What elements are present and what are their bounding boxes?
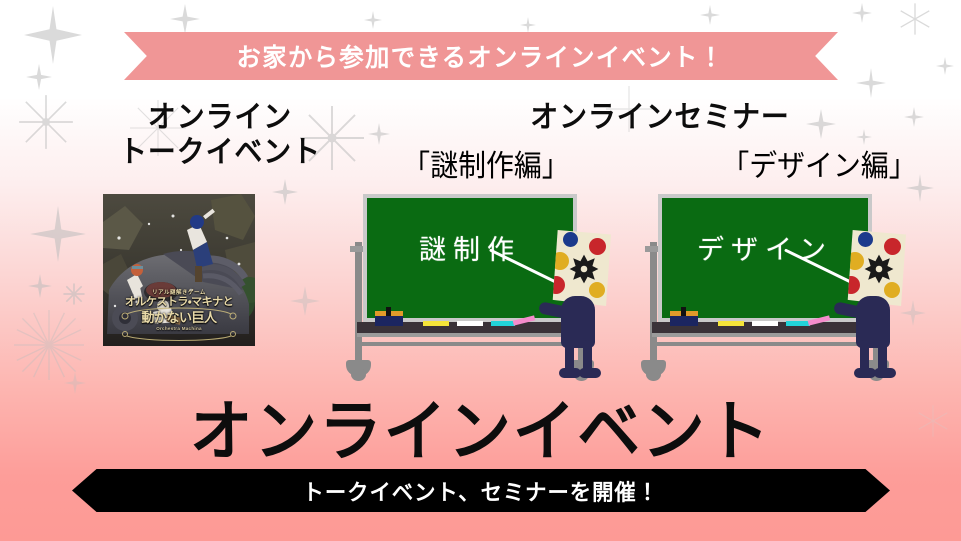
caster-wheel — [346, 360, 371, 376]
chalk-yellow — [423, 321, 449, 326]
event-poster-thumbnail[interactable]: リアル謎解きゲーム オルケストラ・マキナと 動かない巨人 Orchestra M… — [103, 194, 255, 346]
poster-title-text: リアル謎解きゲーム オルケストラ・マキナと 動かない巨人 Orchestra M… — [103, 290, 255, 333]
mascot-foot-right — [874, 368, 896, 378]
board-chalk-text-nazo: 謎制作 — [367, 228, 573, 267]
sparkle-icon — [364, 10, 382, 30]
sparkle-icon — [272, 178, 298, 206]
board-chalk-text-design: デザイン — [662, 228, 868, 267]
mascot-character-design — [840, 230, 912, 370]
board-surface: 謎制作 — [367, 198, 573, 318]
head-dot-yellow-2 — [589, 282, 605, 298]
sparkle-icon — [14, 310, 84, 380]
top-ribbon-banner: お家から参加できるオンラインイベント！ — [124, 32, 838, 80]
head-dot-yellow — [551, 252, 569, 270]
main-headline: オンラインイベント — [24, 378, 937, 474]
chalk-yellow — [718, 321, 744, 326]
ribbon-label: お家から参加できるオンラインイベント！ — [237, 38, 725, 74]
bottom-banner-label: トークイベント、セミナーを開催！ — [303, 475, 660, 507]
head-dot-yellow-2 — [884, 282, 900, 298]
talk-event-heading: オンライン トークイベント — [60, 100, 380, 171]
head-dot-yellow — [846, 252, 864, 270]
seminar-subheading-design: 「デザイン編」 — [721, 141, 916, 185]
head-dot-blue — [563, 232, 578, 247]
sparkle-icon — [26, 62, 52, 92]
blackboard-nazo: 謎制作 — [345, 190, 595, 370]
online-event-poster: お家から参加できるオンラインイベント！ オンライン トークイベント オンラインセ… — [0, 0, 961, 541]
mascot-head — [549, 230, 611, 306]
head-dot-red — [884, 238, 901, 255]
mascot-character-nazo — [545, 230, 617, 370]
seminar-heading-main: オンラインセミナー — [409, 100, 911, 135]
sparkle-icon — [700, 4, 720, 26]
sparkle-icon — [170, 2, 200, 36]
head-starburst-icon — [569, 254, 599, 284]
blackboard-eraser — [375, 315, 403, 326]
blackboard-design: デザイン — [640, 190, 890, 370]
poster-title-line1: オルケストラ・マキナと — [103, 296, 255, 310]
mascot-foot-left — [854, 368, 876, 378]
sparkle-icon — [856, 68, 886, 98]
sparkle-icon — [30, 206, 86, 262]
head-dot-red-2 — [844, 276, 860, 294]
bottom-banner: トークイベント、セミナーを開催！ — [72, 469, 890, 512]
seminar-subheading-nazo: 「謎制作編」 — [402, 141, 569, 185]
sparkle-icon — [520, 16, 536, 34]
chalk-white — [457, 321, 483, 326]
head-starburst-icon — [864, 254, 894, 284]
seminar-subheadings: 「謎制作編」 「デザイン編」 — [390, 141, 930, 185]
blackboard-eraser — [670, 315, 698, 326]
caster-wheel — [641, 360, 666, 376]
talk-event-heading-line1: オンライン — [71, 100, 369, 135]
mascot-foot-left — [559, 368, 581, 378]
sparkle-icon — [28, 272, 52, 300]
chalk-cyan — [491, 321, 515, 326]
head-dot-red-2 — [549, 276, 565, 294]
sparkle-icon — [24, 6, 82, 64]
poster-title-roman: Orchestra Machina — [103, 326, 255, 332]
sparkle-icon — [936, 56, 954, 76]
chalk-white — [752, 321, 778, 326]
sparkle-icon — [852, 2, 872, 24]
sparkle-icon — [898, 2, 932, 36]
poster-title-line2: 動かない巨人 — [103, 310, 255, 326]
sparkle-icon — [290, 286, 320, 316]
board-surface: デザイン — [662, 198, 868, 318]
mascot-head — [844, 230, 906, 306]
head-dot-red — [589, 238, 606, 255]
head-dot-blue — [858, 232, 873, 247]
sparkle-icon — [62, 282, 86, 306]
chalk-cyan — [786, 321, 810, 326]
mascot-foot-right — [579, 368, 601, 378]
seminar-heading: オンラインセミナー — [390, 100, 930, 135]
talk-event-heading-line2: トークイベント — [71, 135, 369, 170]
